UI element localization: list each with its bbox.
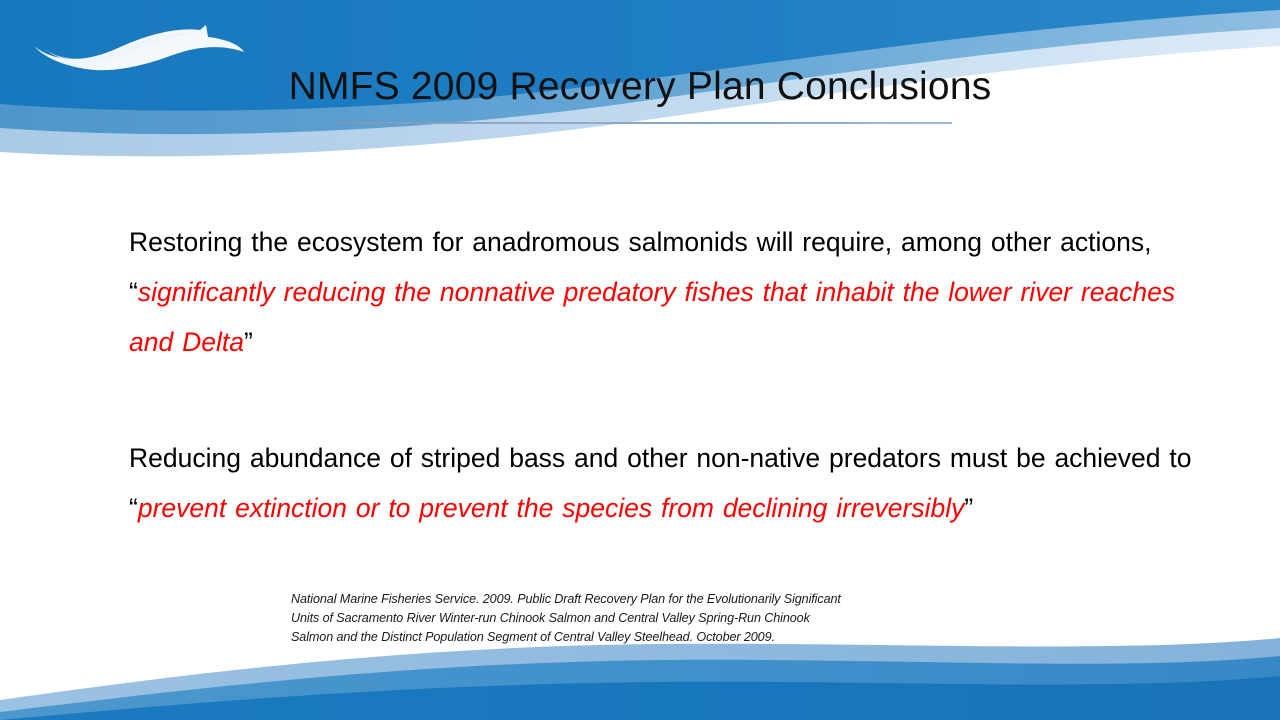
page-title: NMFS 2009 Recovery Plan Conclusions: [0, 66, 1280, 109]
paragraph-1-close-quote: ”: [244, 327, 253, 357]
slide-title-block: NMFS 2009 Recovery Plan Conclusions: [0, 66, 1280, 109]
bottom-wave-pale: [0, 638, 1280, 720]
paragraph-2-quoted-text: prevent extinction or to prevent the spe…: [138, 493, 965, 523]
body-paragraph-2: Reducing abundance of striped bass and o…: [129, 433, 1205, 533]
slide-body: Restoring the ecosystem for anadromous s…: [129, 190, 1199, 559]
bottom-wave-deep: [0, 676, 1280, 720]
paragraph-2-open-quote: “: [129, 493, 138, 523]
citation-line-1: National Marine Fisheries Service. 2009.…: [291, 590, 1051, 609]
paragraph-1-quoted-text: significantly reducing the nonnative pre…: [129, 277, 1175, 357]
bottom-wave-mid: [0, 656, 1280, 720]
title-underline-rule: [335, 122, 952, 124]
citation-line-3: Salmon and the Distinct Population Segme…: [291, 628, 1051, 647]
paragraph-2-lead-text: Reducing abundance of striped bass and o…: [129, 443, 1192, 473]
wave-swoosh-icon: [34, 25, 244, 70]
citation-line-2: Units of Sacramento River Winter-run Chi…: [291, 609, 1051, 628]
paragraph-2-close-quote: ”: [964, 493, 973, 523]
body-paragraph-1: Restoring the ecosystem for anadromous s…: [129, 217, 1199, 367]
presentation-slide: NMFS 2009 Recovery Plan Conclusions Rest…: [0, 0, 1280, 720]
source-citation: National Marine Fisheries Service. 2009.…: [291, 590, 1051, 647]
paragraph-1-open-quote: “: [129, 277, 138, 307]
paragraph-1-lead-text: Restoring the ecosystem for anadromous s…: [129, 227, 1151, 257]
